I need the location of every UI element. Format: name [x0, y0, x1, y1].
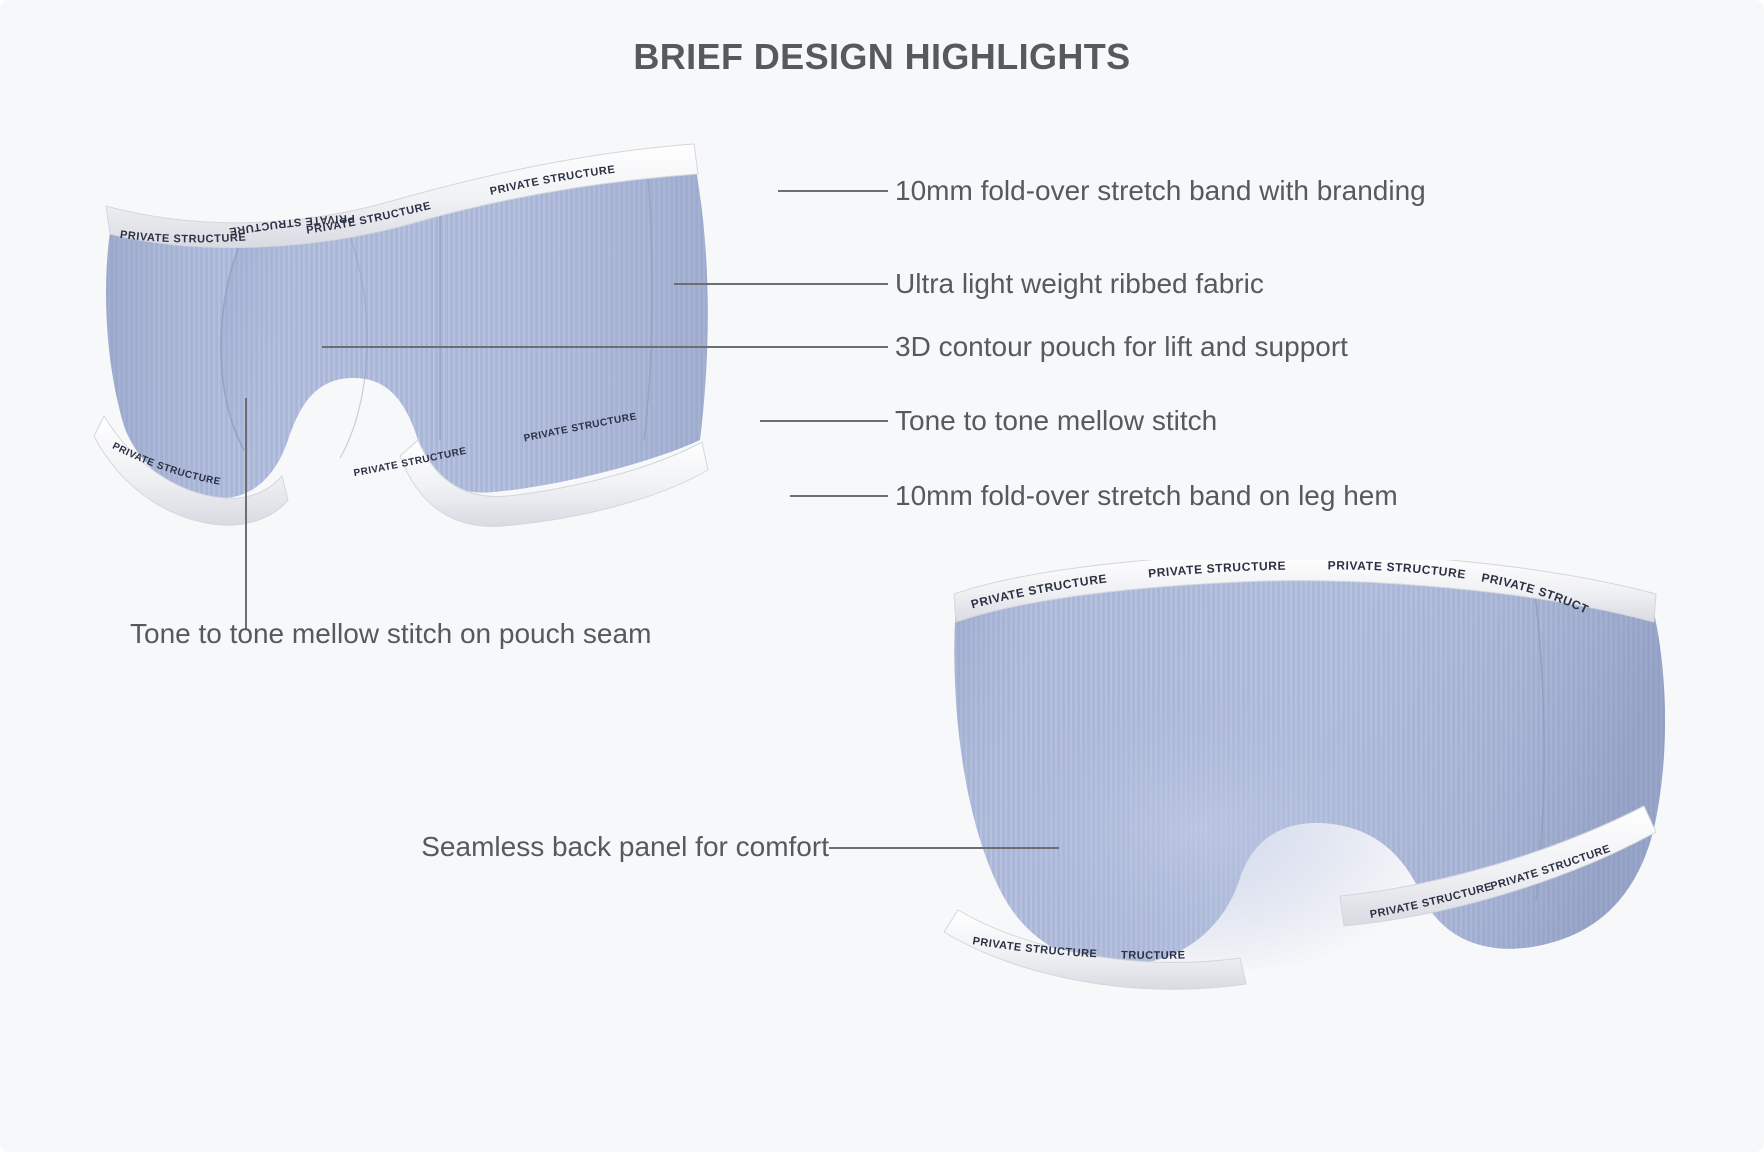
garment-body-back [954, 567, 1665, 970]
leader-line-stretch-band-branding [778, 190, 888, 192]
leader-line-pouch-seam [245, 398, 247, 630]
callout-mellow-stitch: Tone to tone mellow stitch [895, 407, 1217, 435]
callout-stretch-band-leg-hem: 10mm fold-over stretch band on leg hem [895, 482, 1398, 510]
leader-line-leg-hem [790, 495, 888, 497]
contour-pouch-front [215, 226, 367, 481]
product-image-back-view: PRIVATE STRUCTURE PRIVATE STRUCTURE PRIV… [940, 560, 1700, 1000]
callout-seamless-back-panel: Seamless back panel for comfort [329, 833, 829, 861]
callout-contour-pouch: 3D contour pouch for lift and support [895, 333, 1348, 361]
leader-line-contour-pouch [322, 346, 888, 348]
infographic-canvas: BRIEF DESIGN HIGHLIGHTS [0, 0, 1764, 1152]
callout-stretch-band-branding: 10mm fold-over stretch band with brandin… [895, 177, 1426, 205]
callout-pouch-seam-stitch: Tone to tone mellow stitch on pouch seam [130, 620, 651, 648]
product-image-front-view: PRIVATE STRUCTURE PRIVATE STRUCTURE PRIV… [88, 140, 788, 540]
page-title: BRIEF DESIGN HIGHLIGHTS [0, 36, 1764, 78]
leader-line-seamless-back-panel [829, 847, 1059, 849]
leader-line-mellow-stitch [760, 420, 888, 422]
leader-line-ribbed-fabric [674, 283, 888, 285]
callout-ribbed-fabric: Ultra light weight ribbed fabric [895, 270, 1264, 298]
leg-hem-brand-text: TRUCTURE [1121, 949, 1186, 962]
